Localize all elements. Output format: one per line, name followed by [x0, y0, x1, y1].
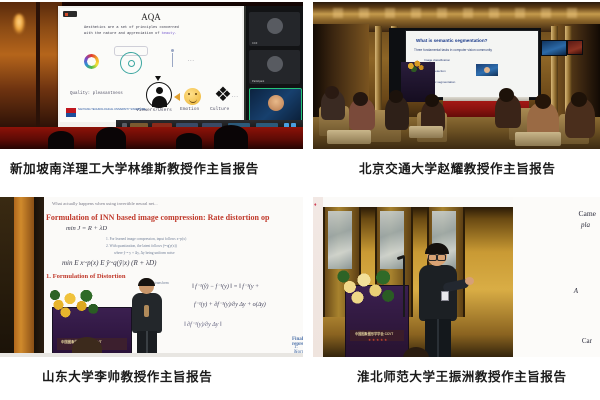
audience-head: [499, 88, 514, 102]
slide-subtitle-highlight: beauty.: [162, 32, 177, 36]
user-avatar-icon: [146, 82, 172, 108]
slide-line-2: pla: [581, 221, 590, 229]
video-tile: CCF: [249, 12, 300, 46]
slide-line-3: A: [574, 287, 578, 295]
audience-head: [571, 92, 587, 107]
avatar: [267, 18, 283, 34]
speaker-hair: [425, 243, 449, 254]
tripod-icon: [164, 49, 180, 71]
speaker-figure: [130, 279, 164, 357]
door-glass: [380, 211, 404, 269]
emotion-emoji-icon: [184, 88, 201, 105]
slide-note-2: 2. With quantization, the latent follows…: [106, 244, 177, 248]
slide-heading-2: 1. Formulation of Distortion: [46, 273, 126, 280]
slide-left-strip: ♦: [313, 197, 323, 357]
video-tile-label: Participant: [252, 80, 264, 83]
university-logo-text: NANYANG TECHNOLOGICAL UNIVERSITY SINGAPO…: [78, 108, 146, 112]
photo-gallery: CCF Participant Speaker AQA Aesthetics a…: [0, 0, 600, 400]
label-culture: Culture: [210, 107, 229, 112]
slide-note-1: 1. For learned image compression, input …: [106, 237, 186, 241]
slide-subtitle: Aesthetics are a set of principles conce…: [84, 26, 230, 37]
avatar: [268, 95, 284, 111]
slide-equation-5: ‖ ∂f⁻¹(y)/∂y Δy ‖: [184, 321, 222, 328]
podium-stars-icon: ★★★★★: [368, 338, 388, 342]
wall-lamp-icon: [13, 14, 25, 34]
flower-arrangement: [48, 285, 106, 321]
side-monitor: [567, 40, 583, 55]
slide-equation-3: ‖ f⁻¹(ŷ) − f⁻¹(y) ‖ = ‖ f⁻¹(y +: [192, 283, 259, 290]
speaker-body: [419, 265, 457, 321]
photo-bottom-strip: [0, 353, 303, 357]
speaker-figure: [415, 245, 463, 357]
audience-head: [535, 94, 551, 109]
slide-bullet: Three fundamental tasks in computer visi…: [414, 48, 492, 52]
slide-heading-1: Formulation of INN based image compressi…: [46, 213, 269, 222]
flower-arrangement: [403, 58, 429, 74]
slide-note-3: where ŷ = y + Δy, Δy being uniform noise: [114, 251, 175, 255]
round-table: [515, 132, 561, 146]
slide-canvas: AQA Aesthetics are a set of principles c…: [60, 8, 242, 122]
projection-slide: Came pla A Car: [513, 197, 600, 357]
speaker-hand: [465, 277, 474, 285]
audience-silhouette: [176, 133, 202, 149]
slide-equation-1: min J = R + λD: [66, 225, 107, 232]
audience-silhouette: [48, 131, 74, 149]
pin-icon: [155, 76, 161, 81]
photo-caption-4: 淮北师范大学王振洲教授作主旨报告: [357, 371, 567, 384]
speaker-legs: [425, 319, 451, 357]
audience-head: [389, 90, 403, 103]
aperture-icon: [120, 52, 142, 74]
audience-head: [425, 94, 439, 107]
photo-caption-1: 新加坡南洋理工大学林维斯教授作主旨报告: [10, 163, 259, 176]
conference-photo-1[interactable]: CCF Participant Speaker AQA Aesthetics a…: [0, 2, 303, 149]
color-wheel-icon: [84, 54, 99, 69]
video-conference-strip: CCF Participant Speaker: [246, 6, 303, 132]
slide-equation-2: min E x~p(x) E ŷ~q(ŷ|x) (R + λD): [62, 259, 156, 267]
wall-trim: [34, 197, 44, 357]
label-quality: Quality: pleasantness: [70, 92, 123, 96]
photo-caption-3: 山东大学李帅教授作主旨报告: [42, 371, 212, 384]
slide-subtitle-line2: with the nature and appreciation of beau…: [84, 32, 230, 38]
inner-photo: 中国图象图形学学会 CCVT ★★★★★: [323, 207, 513, 357]
label-emotion: Emotion: [180, 107, 199, 112]
conference-photo-2[interactable]: What is semantic segmentation? Three fun…: [313, 2, 600, 149]
projection-screen: AQA Aesthetics are a set of principles c…: [58, 6, 246, 132]
slide-video-thumbnail: [476, 64, 498, 76]
slide-title: AQA: [60, 12, 242, 22]
video-tile: Participant: [249, 50, 300, 84]
university-logo-icon: [66, 108, 76, 117]
slide-line-1: Came: [579, 209, 597, 218]
round-table: [327, 130, 371, 144]
door-glass: [328, 211, 352, 269]
slide-bullet: What actually happens when using inverti…: [52, 201, 158, 206]
wall-dark: [0, 197, 14, 357]
ellipsis-top: ...: [188, 58, 195, 63]
conference-photo-3[interactable]: What actually happens when using inverti…: [0, 197, 303, 357]
avatar: [267, 56, 283, 72]
audience-silhouette: [214, 125, 248, 149]
wall-wood-panel: [14, 197, 34, 357]
audience-silhouette: [96, 127, 126, 149]
slide-mark-icon: ♦: [314, 203, 317, 208]
slide-title: What is semantic segmentation?: [416, 38, 487, 43]
arrow-left-icon: [174, 93, 180, 101]
speaker-hair: [138, 278, 155, 286]
microphone-icon: [144, 305, 149, 317]
round-table: [409, 126, 443, 138]
door-frame: [36, 2, 40, 127]
glasses-icon: [428, 254, 446, 259]
culture-glyph-icon: ❖: [212, 84, 234, 106]
audience-head: [325, 86, 339, 99]
side-monitor: [541, 40, 567, 56]
slide-equation-4: f⁻¹(y) + ∂f⁻¹(y)/∂y Δy + o(Δy): [194, 301, 266, 308]
microphone-stand-icon: [403, 257, 405, 317]
video-tile-label: CCF: [252, 42, 257, 45]
photo-caption-2: 北京交通大学赵耀教授作主旨报告: [359, 163, 556, 176]
podium-logo-text: 中国图象图形学学会 CCVT: [355, 331, 393, 336]
side-wall: [0, 2, 62, 127]
flower-arrangement: [337, 265, 401, 309]
stage-edge: [0, 127, 303, 149]
audience-head: [353, 92, 368, 106]
name-badge: [441, 291, 449, 301]
slide-line-4: Car: [582, 337, 592, 345]
slide-subtitle-line2-text: with the nature and appreciation of: [84, 32, 159, 36]
conference-photo-4[interactable]: ♦ Came pla A Car 中国图象图形学学会 CCVT ★★: [313, 197, 600, 357]
